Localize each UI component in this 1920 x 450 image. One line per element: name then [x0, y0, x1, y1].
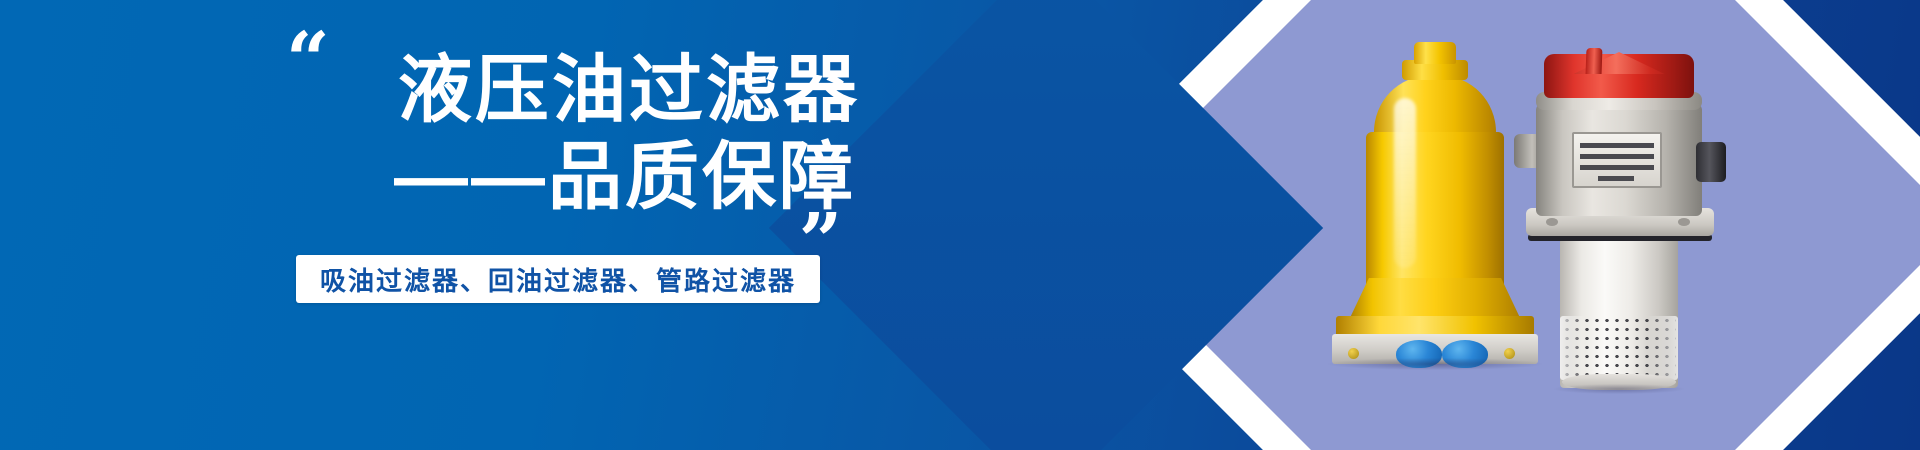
nameplate-line-2 — [1580, 154, 1654, 159]
yellow-filter-shadow — [1328, 358, 1542, 370]
nameplate-line-4 — [1598, 176, 1634, 181]
copy-block: “ 液压油过滤器 ——品质保障 „ 吸油过滤器、回油过滤器、管路过滤器 — [0, 0, 1060, 450]
return-filter-cap-ridge — [1586, 48, 1603, 74]
headline-line-2: ——品质保障 — [0, 133, 860, 220]
yellow-filter-highlight — [1394, 98, 1416, 268]
quote-close-glyph: „ — [800, 160, 844, 236]
return-filter-shadow — [1554, 384, 1684, 394]
headline-line-1: 液压油过滤器 — [0, 46, 860, 133]
nameplate-line-3 — [1580, 165, 1654, 170]
yellow-filter-shoulder — [1374, 76, 1496, 140]
return-filter-nameplate — [1572, 132, 1662, 188]
yellow-filter-body — [1366, 132, 1504, 290]
return-filter-indicator-knob — [1696, 142, 1726, 182]
subtitle-banner: 吸油过滤器、回油过滤器、管路过滤器 — [296, 255, 820, 303]
return-filter-mesh-shading — [1560, 316, 1678, 380]
subtitle-text: 吸油过滤器、回油过滤器、管路过滤器 — [320, 261, 796, 298]
nameplate-line-1 — [1580, 143, 1654, 148]
return-filter-mount-hole-2 — [1678, 218, 1690, 226]
page-title: 液压油过滤器 ——品质保障 — [0, 46, 860, 221]
return-filter-mount-hole-1 — [1546, 218, 1558, 226]
promo-banner: “ 液压油过滤器 ——品质保障 „ 吸油过滤器、回油过滤器、管路过滤器 — [0, 0, 1920, 450]
yellow-filter-cap — [1414, 42, 1456, 64]
product-image-return-filter — [1520, 48, 1780, 388]
product-image-yellow-filter — [1318, 42, 1548, 342]
